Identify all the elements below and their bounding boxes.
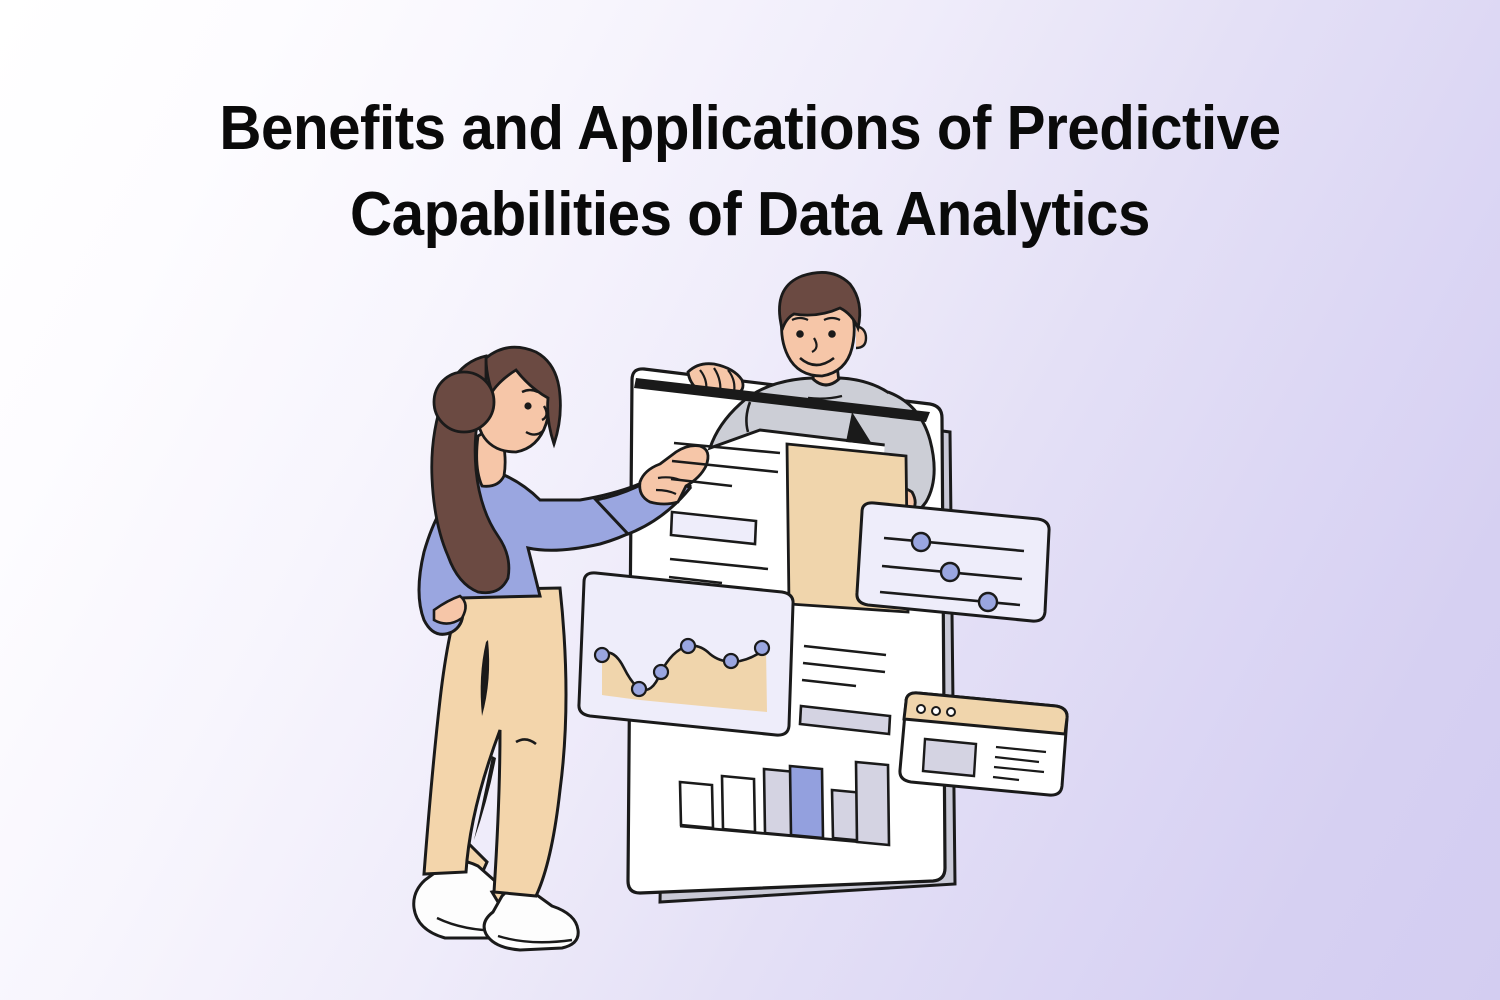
browser-thumbnail bbox=[923, 739, 976, 776]
browser-dot-1[interactable] bbox=[917, 705, 925, 713]
slider-card-background bbox=[857, 503, 1049, 621]
slider-handle-1[interactable] bbox=[912, 533, 930, 551]
chart-point-5 bbox=[724, 654, 738, 668]
bar-6 bbox=[856, 762, 889, 845]
chart-point-2 bbox=[632, 682, 646, 696]
slider-settings-card bbox=[857, 503, 1049, 621]
chart-point-6 bbox=[755, 641, 769, 655]
chart-point-3 bbox=[654, 665, 668, 679]
man-eye-left bbox=[796, 330, 804, 338]
bar-2 bbox=[722, 776, 755, 832]
browser-window-card bbox=[900, 693, 1067, 795]
page-root: Benefits and Applications of Predictive … bbox=[0, 0, 1500, 1000]
bar-1 bbox=[680, 782, 713, 828]
browser-dot-2[interactable] bbox=[932, 707, 940, 715]
browser-dot-3[interactable] bbox=[947, 708, 955, 716]
slider-handle-3[interactable] bbox=[979, 593, 997, 611]
woman-eye bbox=[524, 402, 531, 409]
chart-point-4 bbox=[681, 639, 695, 653]
woman-hair-bun bbox=[434, 372, 494, 432]
area-line-chart-card bbox=[579, 573, 793, 735]
man-eye-right bbox=[828, 330, 836, 338]
illustration-two-people-data-dashboard bbox=[0, 0, 1500, 1000]
chart-point-1 bbox=[595, 648, 609, 662]
slider-handle-2[interactable] bbox=[941, 563, 959, 581]
bar-4-highlighted bbox=[790, 766, 823, 838]
